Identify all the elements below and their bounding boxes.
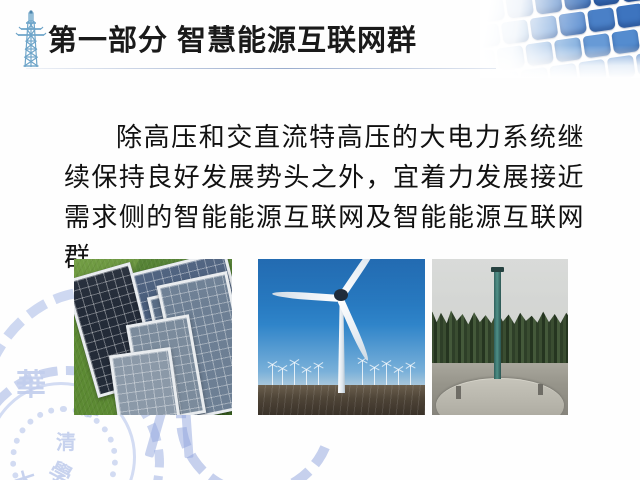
wind-turbine-photo [258, 259, 425, 415]
seal-glyph: 學 [44, 453, 78, 480]
measurement-mast [494, 271, 501, 379]
photo-row [0, 259, 640, 415]
seal-glyph: 清 [56, 426, 76, 455]
pad-marker-post [456, 386, 461, 399]
solar-panels-photo [74, 259, 232, 415]
keyboard-image-fade [480, 0, 640, 78]
page-title: 第一部分 智慧能源互联网群 [48, 24, 417, 58]
background-turbine [272, 365, 273, 387]
background-turbine [362, 361, 363, 387]
solar-panel [109, 347, 181, 415]
transmission-tower-icon [12, 9, 50, 71]
turbine-hub [334, 289, 348, 301]
measurement-mast-photo [432, 259, 568, 415]
pad-marker-post [538, 384, 543, 395]
panel-cells [112, 350, 177, 415]
slide-header: 第一部分 智慧能源互联网群 [0, 0, 640, 78]
background-turbine [318, 366, 319, 387]
slide-canvas: 華 學 大 清 厚 [0, 0, 640, 480]
seal-ring-core [10, 406, 118, 480]
background-turbine [386, 364, 387, 387]
title-divider [26, 68, 496, 69]
seal-glyph: 大 [10, 461, 41, 480]
body-paragraph: 除高压和交直流特高压的大电力系统继续保持良好发展势头之外，宜着力发展接近需求侧的… [64, 118, 584, 278]
keyboard-keys-image [480, 0, 640, 78]
background-turbine [294, 363, 295, 387]
mast-cap [491, 267, 504, 272]
background-turbine [410, 366, 411, 387]
